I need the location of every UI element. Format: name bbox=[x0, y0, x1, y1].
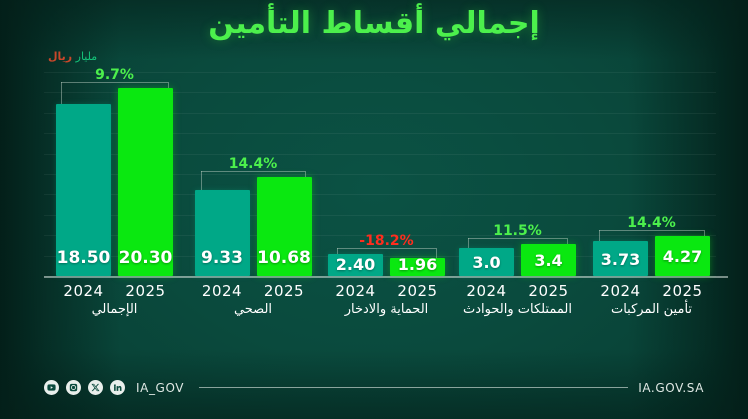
bar-wrapper: 3.0 bbox=[459, 248, 514, 276]
year-label: 2025 bbox=[257, 282, 312, 300]
bar-wrapper: 10.68 bbox=[257, 177, 312, 276]
social-handle: IA_GOV bbox=[136, 381, 184, 395]
bar-value-label: 2.40 bbox=[328, 255, 383, 274]
bar-group: 14.4%9.3310.68 bbox=[185, 72, 321, 276]
category-label: تأمين المركبات bbox=[583, 302, 720, 318]
bar-value-label: 3.0 bbox=[459, 253, 514, 272]
year-label: 2025 bbox=[521, 282, 576, 300]
footer-divider-left bbox=[199, 387, 550, 388]
bar-2025[interactable]: 4.27 bbox=[655, 236, 710, 276]
bar-value-label: 4.27 bbox=[655, 247, 710, 266]
bar-wrapper: 4.27 bbox=[655, 236, 710, 276]
bar-wrapper: 9.33 bbox=[195, 190, 250, 277]
bar-2025[interactable]: 3.4 bbox=[521, 244, 576, 276]
bar-wrapper: 18.50 bbox=[56, 104, 111, 276]
x-label-group: 20242025الإجمالي bbox=[44, 282, 185, 318]
bar-group: 9.7%18.5020.30 bbox=[44, 72, 185, 276]
year-label: 2025 bbox=[118, 282, 173, 300]
bar-group: 14.4%3.734.27 bbox=[583, 72, 720, 276]
bar-wrapper: 1.96 bbox=[390, 258, 445, 276]
x-label-group: 20242025تأمين المركبات bbox=[583, 282, 720, 318]
category-label: الحماية والادخار bbox=[321, 302, 452, 318]
bar-wrapper: 20.30 bbox=[118, 88, 173, 276]
x-twitter-icon[interactable] bbox=[88, 380, 103, 395]
footer-website-block: IA.GOV.SA bbox=[550, 381, 704, 395]
bar-value-label: 10.68 bbox=[257, 248, 312, 268]
category-label: الإجمالي bbox=[44, 302, 185, 318]
bar-value-label: 9.33 bbox=[195, 248, 250, 268]
x-axis-baseline bbox=[44, 276, 728, 278]
bracket-leg-left bbox=[61, 82, 62, 107]
x-label-group: 20242025الحماية والادخار bbox=[321, 282, 452, 318]
y-axis-unit-prefix: مليار bbox=[72, 50, 97, 63]
bar-2025[interactable]: 10.68 bbox=[257, 177, 312, 276]
footer: IA_GOV IA.GOV.SA bbox=[0, 380, 748, 395]
x-axis-labels: 20242025الإجمالي20242025الصحي20242025الح… bbox=[44, 282, 730, 318]
category-label: الصحي bbox=[185, 302, 321, 318]
bar-value-label: 3.73 bbox=[593, 250, 648, 269]
growth-percentage: 11.5% bbox=[452, 223, 583, 239]
bar-value-label: 18.50 bbox=[56, 248, 111, 268]
bar-wrapper: 3.4 bbox=[521, 244, 576, 276]
x-label-group: 20242025الصحي bbox=[185, 282, 321, 318]
year-label: 2024 bbox=[328, 282, 383, 300]
youtube-icon[interactable] bbox=[44, 380, 59, 395]
growth-percentage: 14.4% bbox=[185, 156, 321, 172]
year-label: 2024 bbox=[593, 282, 648, 300]
year-label: 2024 bbox=[56, 282, 111, 300]
bar-wrapper: 2.40 bbox=[328, 254, 383, 276]
growth-percentage: -18.2% bbox=[321, 233, 452, 249]
bracket-top bbox=[61, 82, 168, 83]
bar-2024[interactable]: 18.50 bbox=[56, 104, 111, 276]
bracket-top bbox=[599, 230, 703, 231]
footer-divider-right bbox=[550, 387, 628, 388]
bracket-top bbox=[468, 238, 568, 239]
instagram-icon[interactable] bbox=[66, 380, 81, 395]
bar-2024[interactable]: 3.0 bbox=[459, 248, 514, 276]
year-label: 2024 bbox=[459, 282, 514, 300]
bar-2024[interactable]: 3.73 bbox=[593, 241, 648, 276]
bar-group: 11.5%3.03.4 bbox=[452, 72, 583, 276]
year-labels: 20242025 bbox=[583, 282, 720, 300]
bar-value-label: 1.96 bbox=[390, 255, 445, 274]
page-title: إجمالي أقساط التأمين bbox=[0, 6, 748, 41]
bar-2025[interactable]: 1.96 bbox=[390, 258, 445, 276]
category-label: الممتلكات والحوادث bbox=[452, 302, 583, 318]
year-labels: 20242025 bbox=[321, 282, 452, 300]
bracket-top bbox=[337, 248, 437, 249]
bracket-top bbox=[201, 171, 304, 172]
bar-group: -18.2%2.401.96 bbox=[321, 72, 452, 276]
year-labels: 20242025 bbox=[44, 282, 185, 300]
bracket-leg-left bbox=[201, 171, 202, 192]
riyal-symbol: ريال bbox=[48, 50, 72, 63]
footer-social-block: IA_GOV bbox=[44, 380, 550, 395]
bar-2024[interactable]: 9.33 bbox=[195, 190, 250, 277]
year-label: 2025 bbox=[390, 282, 445, 300]
x-label-group: 20242025الممتلكات والحوادث bbox=[452, 282, 583, 318]
bar-value-label: 3.4 bbox=[521, 251, 576, 270]
y-axis-unit-label: مليار ريال bbox=[48, 50, 97, 63]
bar-groups: 9.7%18.5020.3014.4%9.3310.68-18.2%2.401.… bbox=[44, 72, 730, 276]
website-url: IA.GOV.SA bbox=[638, 381, 704, 395]
growth-percentage: 14.4% bbox=[583, 215, 720, 231]
bar-2025[interactable]: 20.30 bbox=[118, 88, 173, 276]
year-labels: 20242025 bbox=[185, 282, 321, 300]
bar-2024[interactable]: 2.40 bbox=[328, 254, 383, 276]
linkedin-icon[interactable] bbox=[110, 380, 125, 395]
year-labels: 20242025 bbox=[452, 282, 583, 300]
year-label: 2024 bbox=[195, 282, 250, 300]
bar-value-label: 20.30 bbox=[118, 248, 173, 268]
year-label: 2025 bbox=[655, 282, 710, 300]
bar-wrapper: 3.73 bbox=[593, 241, 648, 276]
